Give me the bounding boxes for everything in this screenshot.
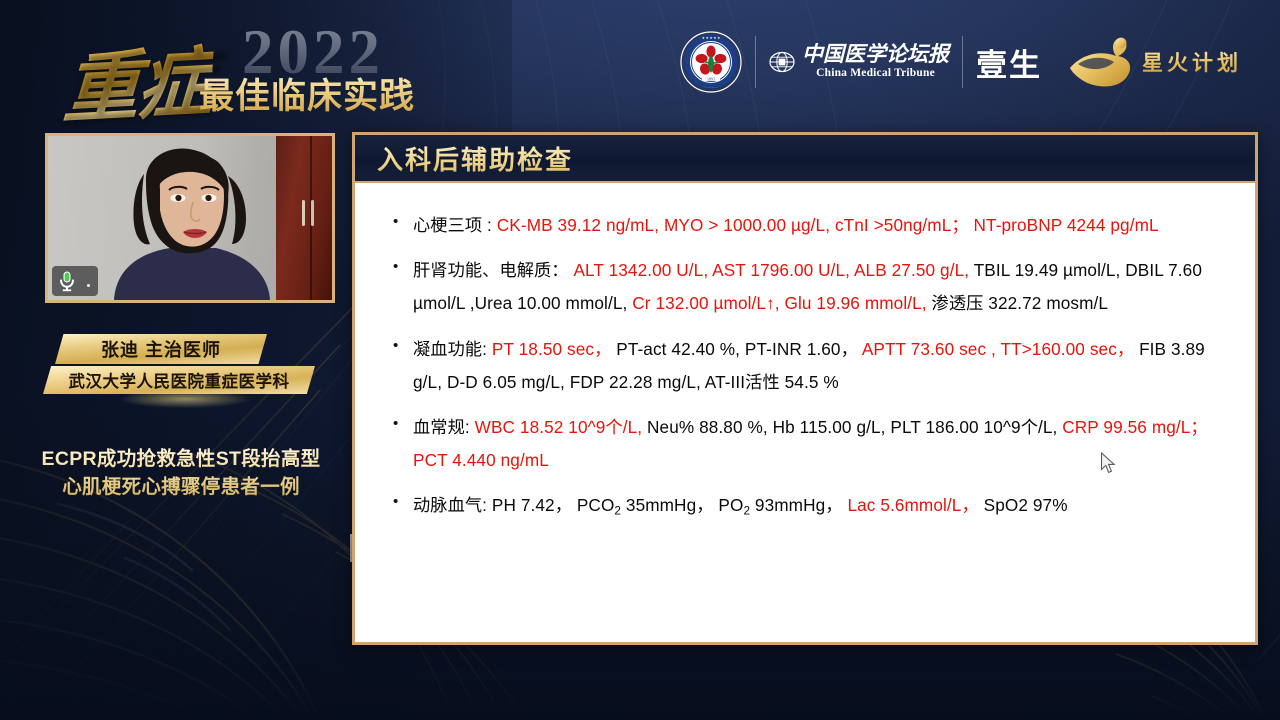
door-handle-left <box>302 200 305 226</box>
bullet-segment: 动脉血气: PH 7.42， PCO2 35mmHg， PO2 93mmHg， <box>413 495 843 515</box>
speaker-name-banner: 张迪 主治医师 <box>55 334 267 364</box>
cmt-chinese-name: 中国医学论坛报 <box>802 44 949 65</box>
spark-program-logo: 星火计划 <box>1068 34 1242 90</box>
presentation-slide[interactable]: 入科后辅助检查 心梗三项 : CK-MB 39.12 ng/mL, MYO > … <box>352 132 1258 645</box>
talk-title-line-1: ECPR成功抢救急性ST段抬高型 <box>6 446 356 474</box>
speaker-video-tile[interactable] <box>45 133 335 303</box>
globe-icon <box>769 49 795 75</box>
bullet-segment: PT-act 42.40 %, PT-INR 1.60， <box>616 339 858 359</box>
bullet-segment: 肝肾功能、电解质： <box>413 260 569 280</box>
logo-divider-1 <box>755 36 756 88</box>
bullet-segment: 凝血功能: <box>413 339 487 359</box>
subscript-2: 2 <box>614 505 621 518</box>
door-handle-right <box>311 200 314 226</box>
bullet-segment: APTT 73.60 sec , TT>160.00 sec， <box>862 339 1134 359</box>
bullet-segment: 心梗三项 : <box>413 215 492 235</box>
slide-bullet-arterial-blood-gas: 动脉血气: PH 7.42， PCO2 35mmHg， PO2 93mmHg， … <box>413 489 1221 523</box>
spark-program-label: 星火计划 <box>1142 47 1242 77</box>
speaker-webcam-image <box>100 148 282 300</box>
bullet-segment: SpO2 97% <box>984 495 1068 515</box>
slide-title: 入科后辅助检查 <box>377 140 573 177</box>
bullet-segment: CK-MB 39.12 ng/mL, MYO > 1000.00 µg/L, c… <box>497 215 1159 235</box>
logo-divider-2 <box>962 36 963 88</box>
slide-bullet-coagulation: 凝血功能: PT 18.50 sec， PT-act 42.40 %, PT-I… <box>413 333 1221 399</box>
partner-logos: 1893 ★ ★ ★ ★ ★ · · · · · · · 中国医学论坛报 Chi… <box>680 26 1242 98</box>
bullet-segment: 血常规: <box>413 417 470 437</box>
speaker-affiliation-label: 武汉大学人民医院重症医学科 <box>43 366 315 394</box>
microphone-indicator <box>52 266 98 296</box>
svg-text:★ ★ ★ ★ ★: ★ ★ ★ ★ ★ <box>702 36 721 40</box>
china-medical-tribune-logo: 中国医学论坛报 China Medical Tribune <box>769 44 949 80</box>
cmt-english-name: China Medical Tribune <box>816 68 935 80</box>
talk-title-line-2: 心肌梗死心搏骤停患者一例 <box>6 474 356 502</box>
speaker-name-label: 张迪 主治医师 <box>55 334 267 364</box>
svg-text:· · · · · · ·: · · · · · · · <box>705 86 718 90</box>
microphone-icon <box>57 270 77 292</box>
svg-text:1893: 1893 <box>707 76 715 81</box>
arrow-cursor <box>1100 452 1116 474</box>
recording-dot <box>87 284 90 287</box>
bullet-segment: WBC 18.52 10^9个/L, <box>475 417 643 437</box>
slide-body: 心梗三项 : CK-MB 39.12 ng/mL, MYO > 1000.00 … <box>355 183 1255 523</box>
bullet-segment: Neu% 88.80 %, Hb 115.00 g/L, PLT 186.00 … <box>647 417 1057 437</box>
subscript-2: 2 <box>743 505 750 518</box>
slide-bullet-liver-kidney-electrolytes: 肝肾功能、电解质： ALT 1342.00 U/L, AST 1796.00 U… <box>413 254 1221 320</box>
event-logo-main: 重症 <box>61 20 215 138</box>
event-logo-subtitle: 最佳临床实践 <box>199 68 415 119</box>
yisheng-brand: 壹生 <box>976 40 1042 85</box>
bullet-segment: Lac 5.6mmol/L， <box>847 495 978 515</box>
university-seal-emblem-icon: 1893 ★ ★ ★ ★ ★ · · · · · · · <box>680 31 742 93</box>
bullet-segment: PT 18.50 sec， <box>492 339 611 359</box>
talk-title: ECPR成功抢救急性ST段抬高型 心肌梗死心搏骤停患者一例 <box>6 446 356 501</box>
bullet-segment: ALT 1342.00 U/L, AST 1796.00 U/L, ALB 27… <box>573 260 969 280</box>
speaker-affiliation-banner: 武汉大学人民医院重症医学科 <box>43 366 315 394</box>
slide-title-bar: 入科后辅助检查 <box>355 135 1255 183</box>
event-logo: 2022 重症 最佳临床实践 <box>46 12 466 114</box>
soaring-figure-icon <box>1068 34 1140 90</box>
bullet-segment: Cr 132.00 µmol/L↑, Glu 19.96 mmol/L, <box>632 293 926 313</box>
bullet-segment: 渗透压 322.72 mosm/L <box>932 293 1109 313</box>
slide-bullet-cardiac-markers: 心梗三项 : CK-MB 39.12 ng/mL, MYO > 1000.00 … <box>413 209 1221 242</box>
